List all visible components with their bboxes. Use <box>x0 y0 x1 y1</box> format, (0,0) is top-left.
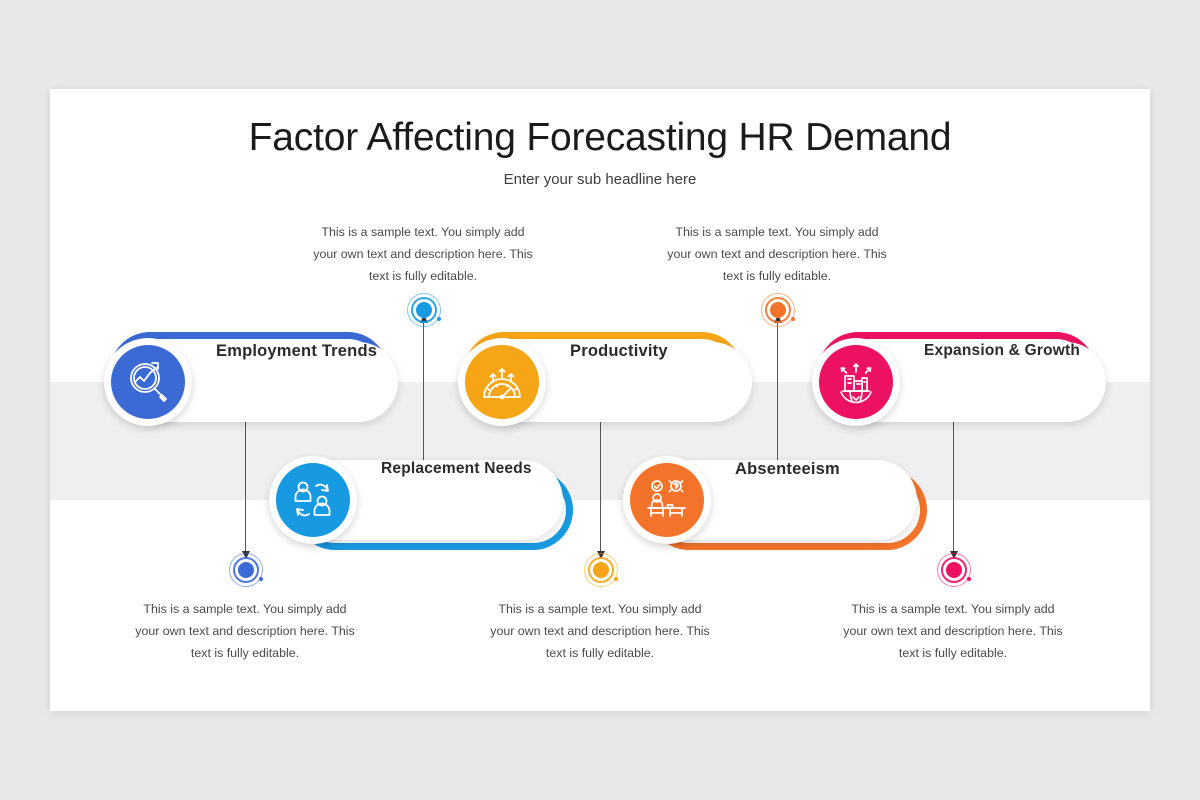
card-absenteeism[interactable]: Absenteeism <box>639 460 917 540</box>
connector-productivity-to-bottom <box>600 416 601 552</box>
people-swap-icon <box>276 463 350 537</box>
card-label: Employment Trends <box>216 342 394 361</box>
connector-expansion-to-bottom <box>953 416 954 552</box>
desc-top-right: This is a sample text. You simply add yo… <box>662 221 892 287</box>
card-replacement-needs[interactable]: Replacement Needs <box>285 460 563 540</box>
card-expansion-growth[interactable]: Expansion & Growth <box>828 342 1106 422</box>
marker-satellite-dot <box>791 317 795 321</box>
buildings-growth-icon <box>819 345 893 419</box>
card-label: Productivity <box>570 342 748 361</box>
desc-bottom-2: This is a sample text. You simply add yo… <box>485 598 715 664</box>
card-icon-frame <box>458 338 546 426</box>
desks-attendance-icon <box>630 463 704 537</box>
marker-satellite-dot <box>614 577 618 581</box>
marker-center-dot <box>416 302 432 318</box>
card-label: Absenteeism <box>735 460 913 479</box>
desc-bottom-1: This is a sample text. You simply add yo… <box>130 598 360 664</box>
marker-center-dot <box>946 562 962 578</box>
marker-satellite-dot <box>967 577 971 581</box>
desc-top-left: This is a sample text. You simply add yo… <box>308 221 538 287</box>
marker-center-dot <box>593 562 609 578</box>
marker-bottom-pink[interactable] <box>937 553 971 587</box>
marker-bottom-blue[interactable] <box>229 553 263 587</box>
marker-satellite-dot <box>259 577 263 581</box>
connector-employment-to-bottom <box>245 416 246 552</box>
card-productivity[interactable]: Productivity <box>474 342 752 422</box>
marker-top-orange[interactable] <box>761 293 795 327</box>
card-employment-trends[interactable]: Employment Trends <box>120 342 398 422</box>
card-icon-frame <box>269 456 357 544</box>
card-icon-frame <box>623 456 711 544</box>
gauge-arrows-icon <box>465 345 539 419</box>
marker-top-blue[interactable] <box>407 293 441 327</box>
card-label: Expansion & Growth <box>924 342 1102 360</box>
slide-canvas: Factor Affecting Forecasting HR Demand E… <box>50 89 1150 711</box>
card-label: Replacement Needs <box>381 460 559 478</box>
marker-satellite-dot <box>437 317 441 321</box>
marker-center-dot <box>770 302 786 318</box>
card-icon-frame <box>812 338 900 426</box>
magnifier-trend-icon <box>111 345 185 419</box>
page-title: Factor Affecting Forecasting HR Demand <box>50 116 1150 160</box>
desc-bottom-3: This is a sample text. You simply add yo… <box>838 598 1068 664</box>
page-subtitle: Enter your sub headline here <box>50 171 1150 188</box>
marker-center-dot <box>238 562 254 578</box>
card-icon-frame <box>104 338 192 426</box>
marker-bottom-amber[interactable] <box>584 553 618 587</box>
